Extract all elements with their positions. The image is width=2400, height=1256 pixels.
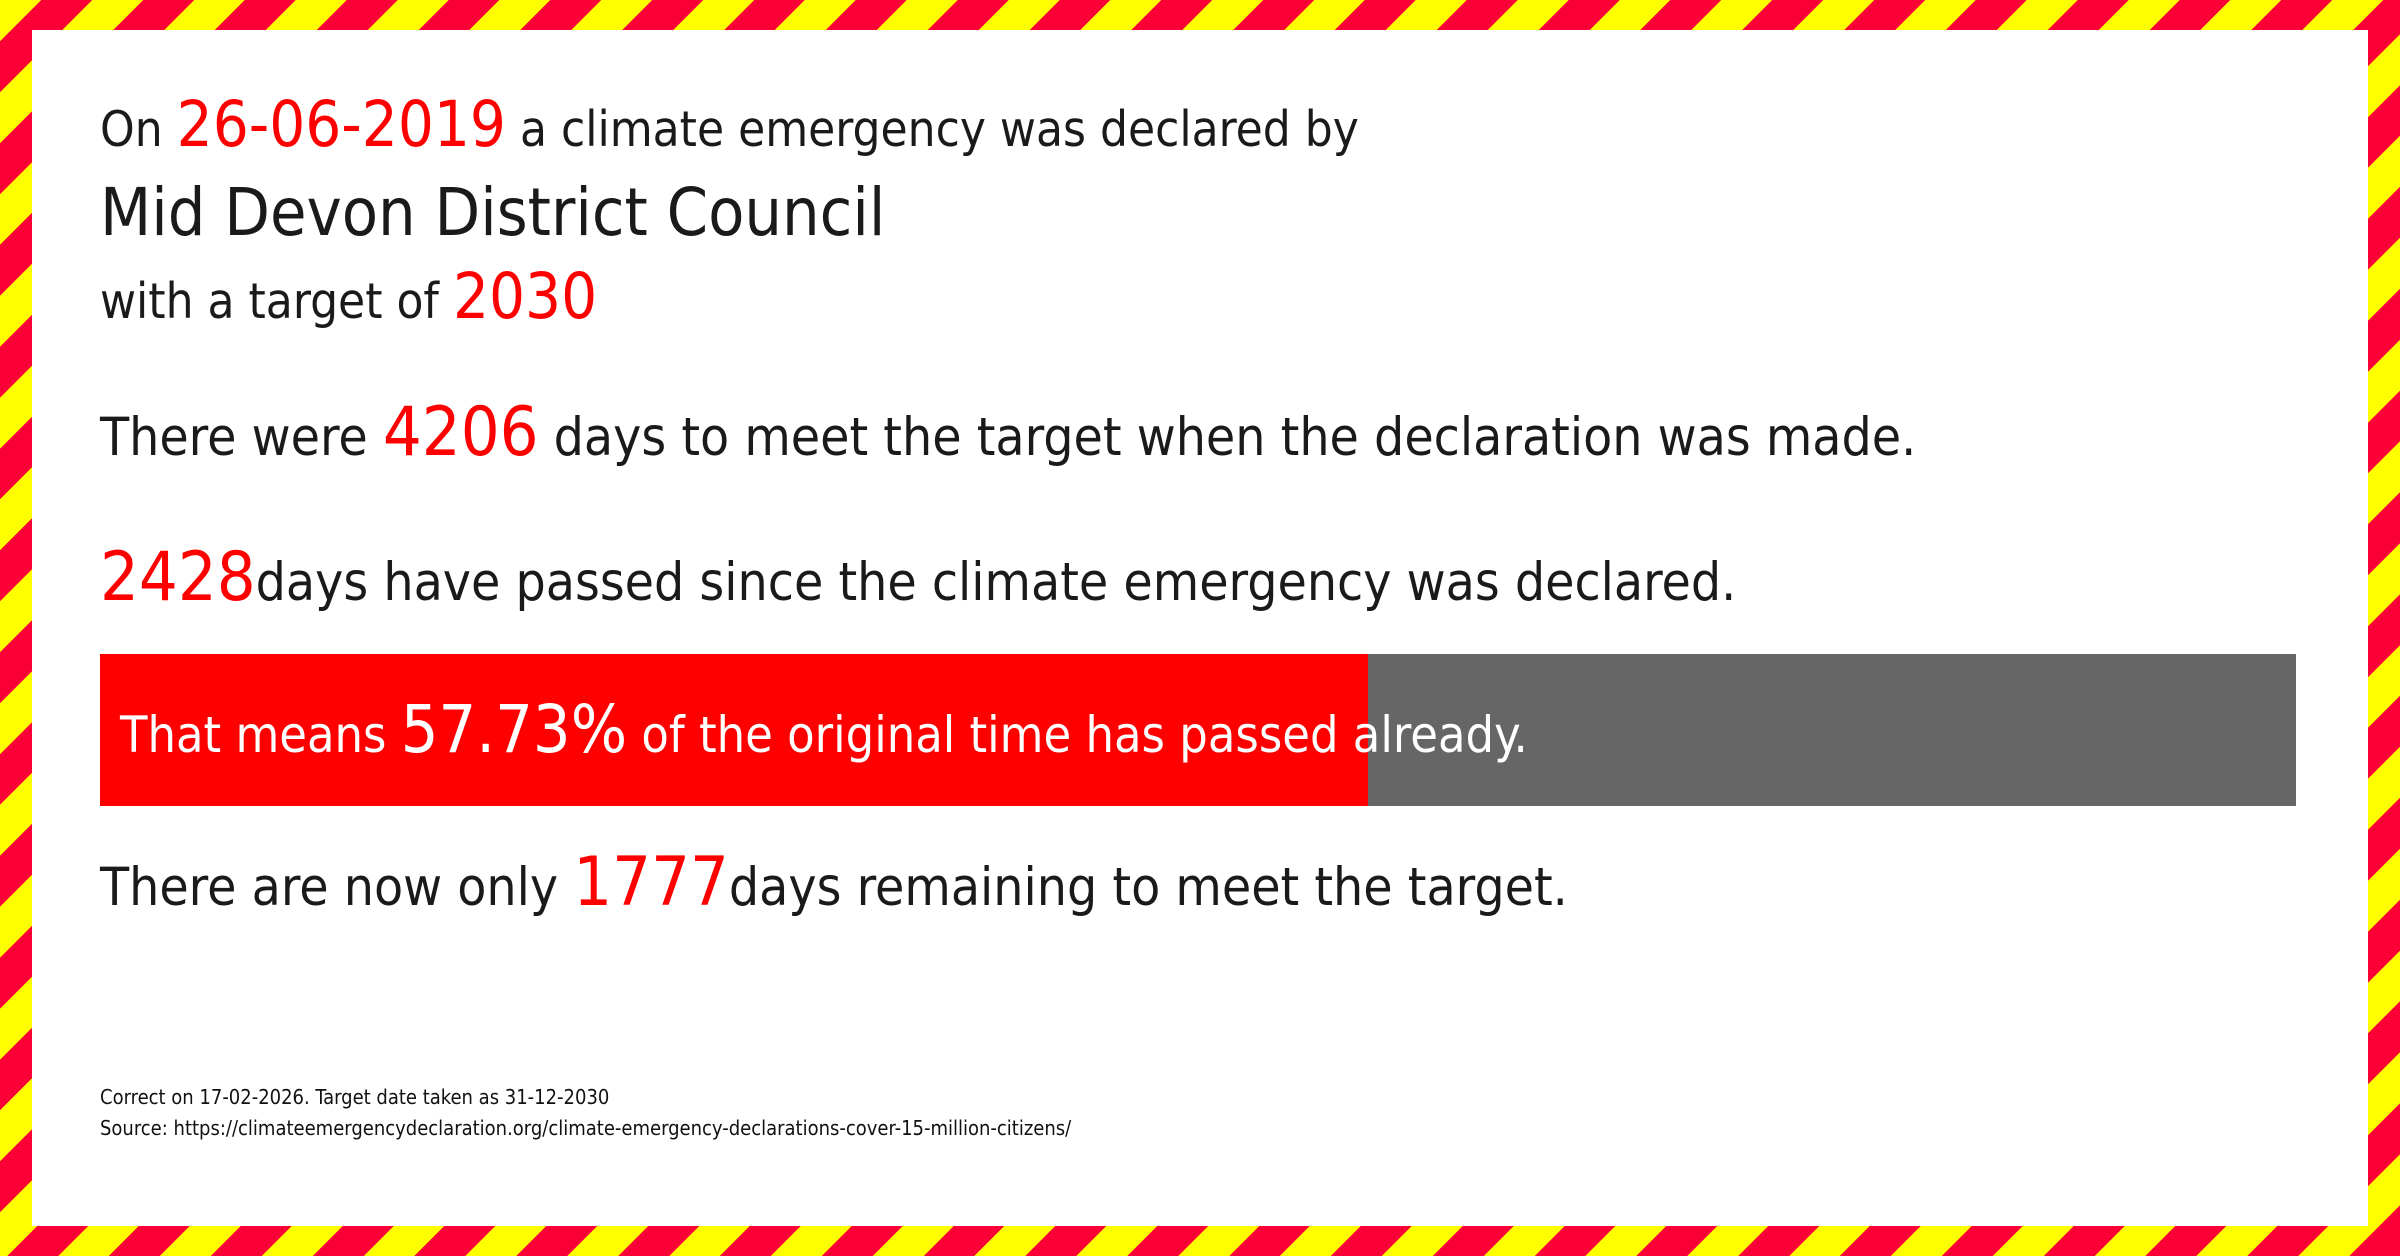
declaration-date: 26-06-2019 (177, 88, 506, 161)
target-prefix: with a target of (100, 273, 453, 330)
target-year: 2030 (453, 260, 597, 333)
declaration-suffix: a climate emergency was declared by (506, 101, 1359, 158)
progress-label-suffix: of the original time has passed already. (627, 706, 1528, 764)
progress-label-prefix: That means (120, 706, 401, 764)
days-passed-line: 2428days have passed since the climate e… (100, 545, 2338, 616)
progress-bar-label: That means 57.73% of the original time h… (120, 654, 1528, 806)
progress-percent-value: 57.73% (401, 691, 627, 768)
days-passed-suffix: days have passed since the climate emerg… (256, 552, 1737, 613)
days-remaining-prefix: There are now only (100, 857, 573, 918)
progress-bar-track: That means 57.73% of the original time h… (100, 654, 2296, 806)
footer-source: Source: https://climateemergencydeclarat… (100, 1113, 1071, 1144)
authority-name: Mid Devon District Council (100, 167, 2338, 259)
declaration-line: On 26-06-2019 a climate emergency was de… (100, 88, 2338, 167)
footer-correct-on: Correct on 17-02-2026. Target date taken… (100, 1082, 1071, 1113)
days-to-target-line: There were 4206 days to meet the target … (100, 400, 2338, 471)
days-to-target-prefix: There were (100, 407, 383, 468)
days-passed-value: 2428 (100, 538, 256, 617)
poster-content: On 26-06-2019 a climate emergency was de… (100, 88, 2338, 1206)
poster-card: On 26-06-2019 a climate emergency was de… (32, 30, 2368, 1226)
days-remaining-value: 1777 (573, 843, 729, 922)
days-remaining-line: There are now only 1777days remaining to… (100, 850, 2338, 921)
hazard-poster: On 26-06-2019 a climate emergency was de… (0, 0, 2400, 1256)
days-to-target-value: 4206 (383, 393, 539, 472)
footer-notes: Correct on 17-02-2026. Target date taken… (100, 1082, 1071, 1144)
days-to-target-suffix: days to meet the target when the declara… (539, 407, 1917, 468)
days-remaining-suffix: days remaining to meet the target. (729, 857, 1568, 918)
target-line: with a target of 2030 (100, 259, 2338, 340)
declaration-prefix: On (100, 101, 177, 158)
